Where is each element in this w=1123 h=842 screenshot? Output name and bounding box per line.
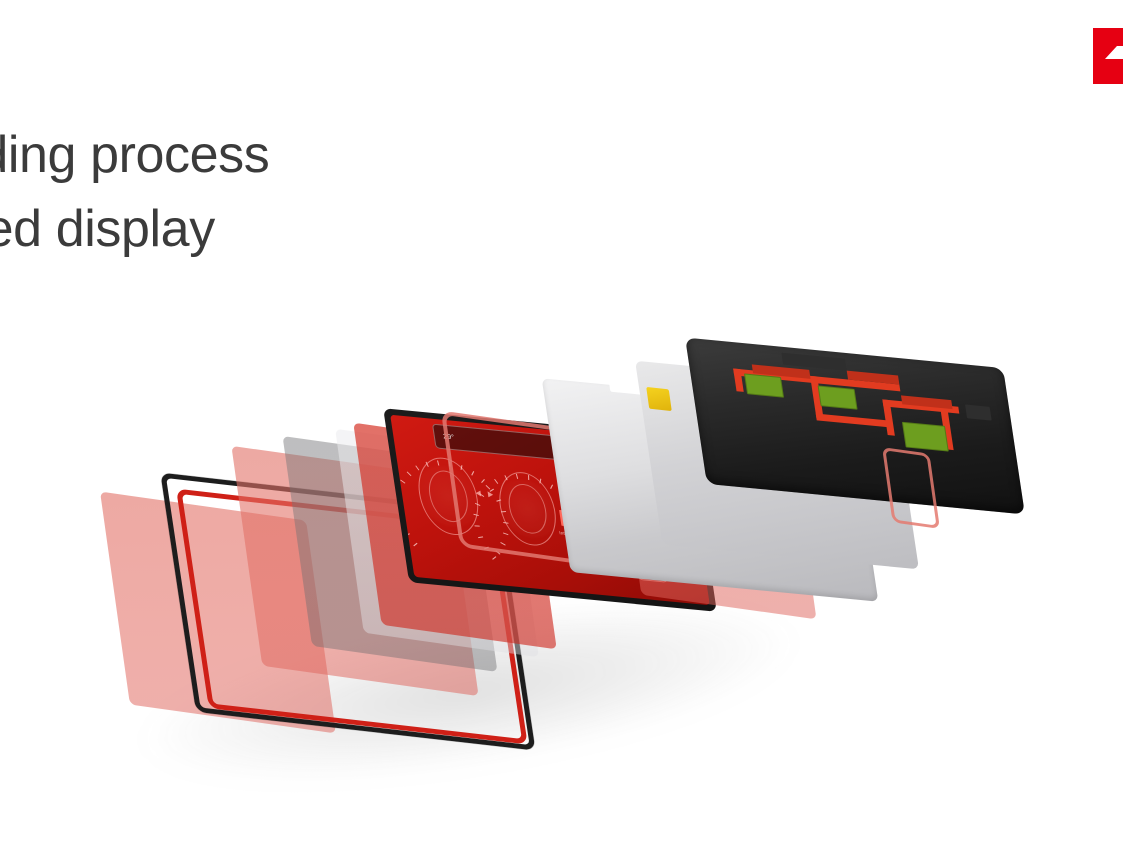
gauge-tick <box>406 471 411 476</box>
cover-recess <box>781 353 846 371</box>
pcb-trace <box>882 400 959 414</box>
pcb-trace <box>810 375 824 420</box>
pcb-chip <box>901 422 948 452</box>
pcb-trace <box>816 414 893 428</box>
pcb-trace <box>882 400 894 436</box>
gauge-tick <box>413 543 417 547</box>
pcb-trace <box>734 368 745 392</box>
pcb-trace <box>734 368 900 391</box>
company-logo <box>1093 28 1123 84</box>
gauge-tick <box>492 557 496 561</box>
bracket-tab-left <box>646 387 672 411</box>
title-line-1: Bonding process <box>0 118 528 192</box>
gauge-tick <box>437 460 439 465</box>
pcb-chip <box>818 385 858 410</box>
cover-recess <box>965 405 992 421</box>
logo-mark-secondary-icon <box>1115 62 1123 71</box>
pcb-trace <box>752 364 811 378</box>
pcb-trace <box>940 405 954 450</box>
pcb-trace <box>847 370 899 384</box>
gauge-tick <box>400 479 405 483</box>
pcb-trace <box>901 396 953 410</box>
gauge-tick <box>425 462 428 467</box>
logo-mark-icon <box>1105 46 1123 59</box>
page-title: Bonding process curved display <box>0 118 528 266</box>
gauge-tick <box>396 489 401 492</box>
exploded-curved-display-stack: 29° 15:03 Intelligent Rock Music ♫ <box>0 300 1123 842</box>
gauge-tick <box>405 533 410 536</box>
gauge-tick <box>399 523 404 525</box>
pcb-chip <box>744 373 784 398</box>
slide-canvas: Bonding process curved display <box>0 0 1123 842</box>
gauge-tick <box>415 465 419 470</box>
title-line-2: curved display <box>0 192 528 266</box>
